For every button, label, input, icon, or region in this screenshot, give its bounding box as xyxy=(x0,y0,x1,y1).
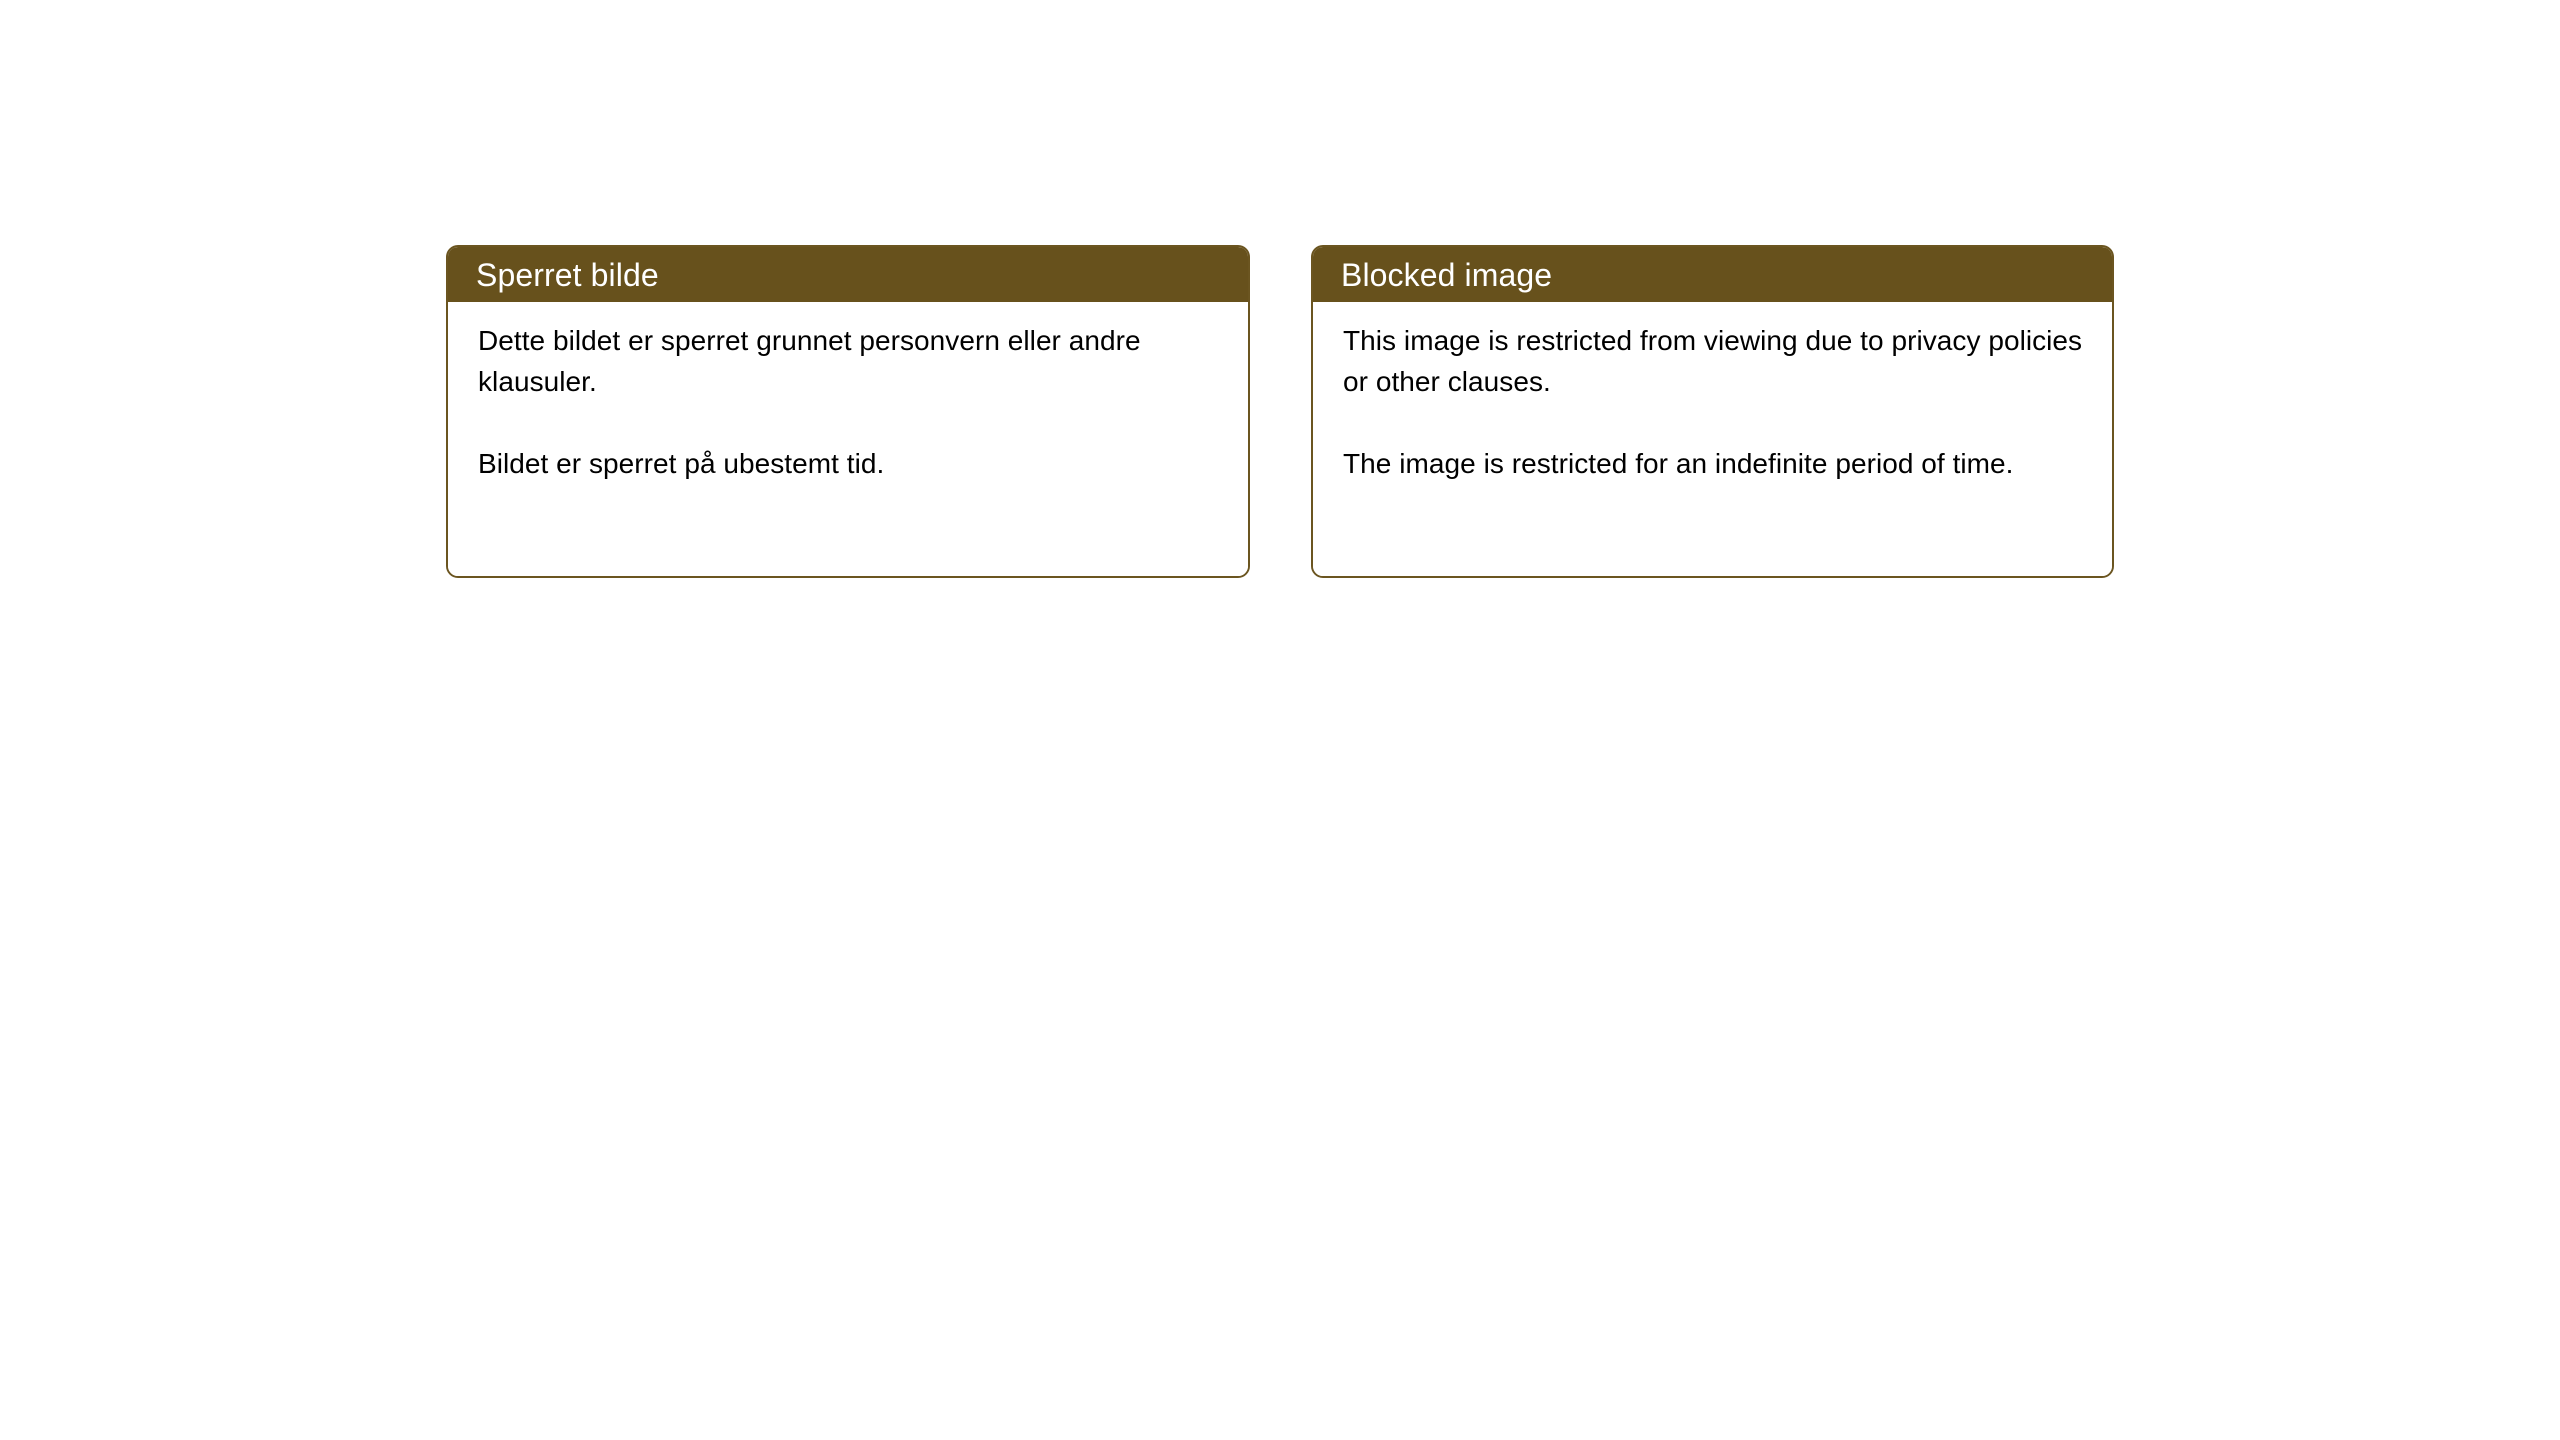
card-title-english: Blocked image xyxy=(1341,257,1552,293)
card-paragraph-secondary-norwegian: Bildet er sperret på ubestemt tid. xyxy=(478,443,1222,484)
card-body-norwegian: Dette bildet er sperret grunnet personve… xyxy=(448,302,1248,576)
blocked-image-card-english: Blocked image This image is restricted f… xyxy=(1311,245,2114,578)
card-paragraph-primary-norwegian: Dette bildet er sperret grunnet personve… xyxy=(478,320,1222,402)
card-header-english: Blocked image xyxy=(1313,247,2112,302)
card-title-norwegian: Sperret bilde xyxy=(476,257,659,293)
card-header-norwegian: Sperret bilde xyxy=(448,247,1248,302)
card-body-english: This image is restricted from viewing du… xyxy=(1313,302,2112,576)
card-paragraph-primary-english: This image is restricted from viewing du… xyxy=(1343,320,2086,402)
blocked-image-card-norwegian: Sperret bilde Dette bildet er sperret gr… xyxy=(446,245,1250,578)
card-paragraph-secondary-english: The image is restricted for an indefinit… xyxy=(1343,443,2086,484)
page-root: Sperret bilde Dette bildet er sperret gr… xyxy=(0,0,2560,1440)
